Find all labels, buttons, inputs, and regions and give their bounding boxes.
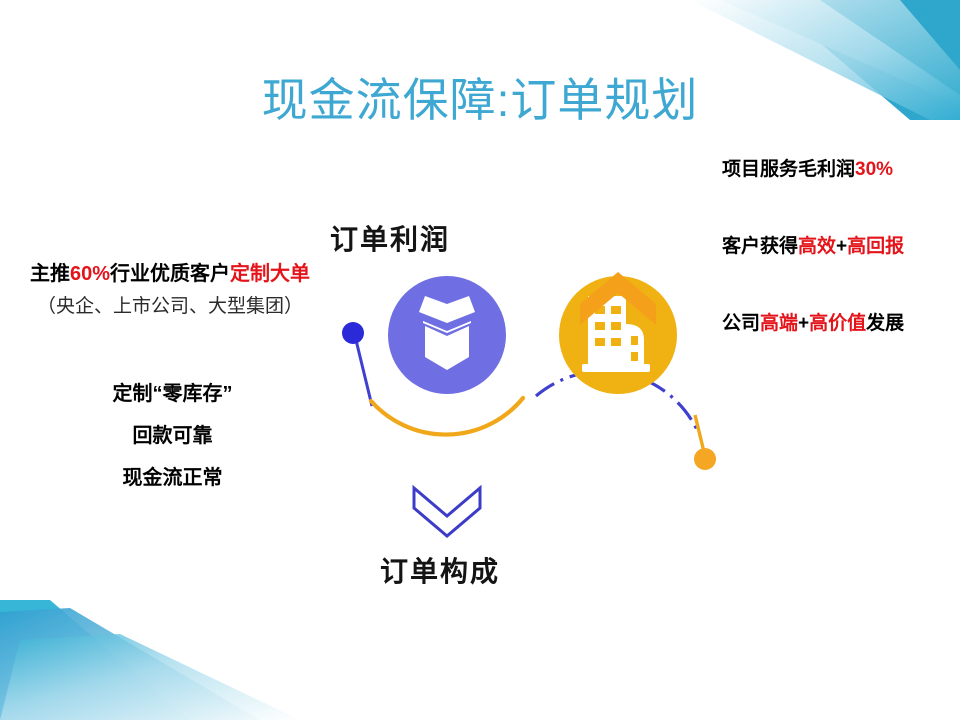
left-node-circle[interactable] bbox=[388, 276, 506, 394]
orange-endpoint-dot bbox=[694, 448, 716, 470]
list-item: 现金流正常 bbox=[0, 468, 345, 488]
left-headline: 主推60%行业优质客户定制大单 bbox=[0, 262, 340, 286]
right-line-1-highlight1: 30% bbox=[855, 159, 893, 180]
right-line-3: 公司高端+高价值发展 bbox=[722, 314, 960, 335]
deco-shape-mid bbox=[0, 608, 260, 720]
left-headline-highlight1: 60% bbox=[70, 263, 110, 285]
page-title: 现金流保障:订单规划 bbox=[0, 64, 960, 130]
left-bullet-list: 定制“零库存” 回款可靠 现金流正常 bbox=[0, 384, 345, 510]
right-line-2-highlight2: 高回报 bbox=[847, 236, 904, 257]
left-headline-part2: 行业优质客户 bbox=[110, 263, 230, 285]
right-line-2: 客户获得高效+高回报 bbox=[722, 237, 960, 258]
blue-endpoint-dot bbox=[342, 322, 364, 344]
right-line-2-highlight1: 高效 bbox=[798, 236, 836, 257]
right-line-2-part2: + bbox=[836, 236, 847, 257]
orange-solid-arc bbox=[371, 398, 523, 435]
bottom-left-decoration bbox=[0, 600, 300, 720]
right-line-1: 项目服务毛利润30% bbox=[722, 160, 960, 181]
left-subline: （央企、上市公司、大型集团） bbox=[0, 296, 340, 319]
list-item: 回款可靠 bbox=[0, 426, 345, 446]
down-chevron-icon bbox=[414, 488, 480, 536]
left-headline-highlight2: 定制大单 bbox=[230, 263, 310, 285]
diagram-bottom-label: 订单构成 bbox=[300, 550, 580, 590]
left-text-block: 主推60%行业优质客户定制大单 （央企、上市公司、大型集团） bbox=[0, 262, 340, 319]
right-text-block: 项目服务毛利润30% 客户获得高效+高回报 公司高端+高价值发展 bbox=[722, 160, 960, 391]
list-item: 定制“零库存” bbox=[0, 384, 345, 404]
left-headline-part1: 主推 bbox=[30, 263, 70, 285]
orange-arc-stem bbox=[695, 415, 704, 452]
right-line-3-highlight1: 高端 bbox=[760, 313, 798, 334]
deco-shape-light bbox=[0, 634, 300, 720]
diagram-top-label: 订单利润 bbox=[330, 218, 550, 258]
blue-arc-stem bbox=[356, 340, 372, 406]
right-line-2-part1: 客户获得 bbox=[722, 236, 798, 257]
right-line-1-part1: 项目服务毛利润 bbox=[722, 159, 855, 180]
right-line-3-highlight2: 高价值 bbox=[809, 313, 866, 334]
slide-canvas: 现金流保障:订单规划 主推60%行业优质客户定制大单 （央企、上市公司、大型集团… bbox=[0, 0, 960, 720]
right-line-3-part3: 发展 bbox=[866, 313, 904, 334]
right-line-3-part2: + bbox=[798, 313, 809, 334]
deco-shape-dark bbox=[0, 600, 190, 720]
